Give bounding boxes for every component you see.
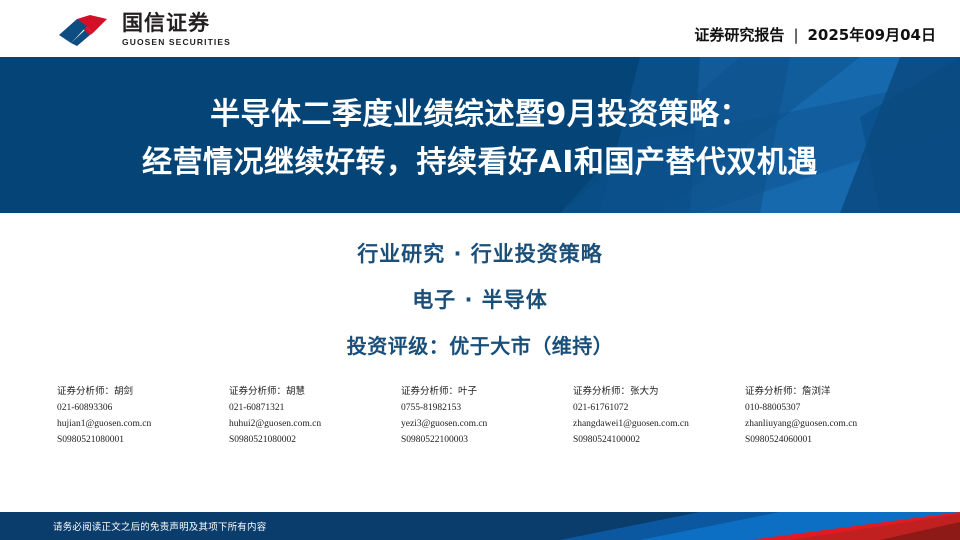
analyst-name: 证券分析师：张大为 — [573, 383, 745, 397]
report-type-and-date: 证券研究报告 | 2025年09月04日 — [694, 24, 936, 45]
report-title-line-2: 经营情况继续好转，持续看好AI和国产替代双机遇 — [142, 137, 818, 181]
analyst-list: 证券分析师：胡剑 021-60893306 hujian1@guosen.com… — [57, 383, 917, 445]
report-title-line-1: 半导体二季度业绩综述暨9月投资策略： — [210, 89, 750, 133]
analyst-name: 证券分析师：詹浏洋 — [745, 383, 917, 397]
analyst-email[interactable]: zhangdawei1@guosen.com.cn — [573, 419, 745, 429]
logo-english-name: GUOSEN SECURITIES — [122, 38, 231, 47]
analyst-license: S0980521080002 — [229, 435, 401, 445]
analyst-card: 证券分析师：詹浏洋 010-88005307 zhanliuyang@guose… — [745, 383, 917, 445]
report-type-label: 证券研究报告 — [694, 24, 784, 45]
analyst-email[interactable]: huhui2@guosen.com.cn — [229, 419, 401, 429]
logo-chinese-name: 国信证券 — [122, 13, 231, 34]
sector-line: 电子 · 半导体 — [412, 284, 548, 314]
analyst-email[interactable]: yezi3@guosen.com.cn — [401, 419, 573, 429]
analyst-name: 证券分析师：胡剑 — [57, 383, 229, 397]
analyst-license: S0980521080001 — [57, 435, 229, 445]
analyst-name: 证券分析师：叶子 — [401, 383, 573, 397]
analyst-card: 证券分析师：胡剑 021-60893306 hujian1@guosen.com… — [57, 383, 229, 445]
page-footer: 请务必阅读正文之后的免责声明及其项下所有内容 — [0, 512, 960, 540]
report-date: 2025年09月04日 — [808, 24, 937, 45]
industry-research-line: 行业研究 · 行业投资策略 — [357, 238, 603, 268]
report-meta-block: 行业研究 · 行业投资策略 电子 · 半导体 投资评级：优于大市（维持） — [0, 238, 960, 359]
analyst-email[interactable]: hujian1@guosen.com.cn — [57, 419, 229, 429]
analyst-card: 证券分析师：叶子 0755-81982153 yezi3@guosen.com.… — [401, 383, 573, 445]
guosen-logo-mark-icon — [57, 13, 113, 47]
analyst-phone: 021-60893306 — [57, 403, 229, 413]
page-header: 国信证券 GUOSEN SECURITIES 证券研究报告 | 2025年09月… — [0, 0, 960, 57]
analyst-license: S0980522100003 — [401, 435, 573, 445]
banner-title-group: 半导体二季度业绩综述暨9月投资策略： 经营情况继续好转，持续看好AI和国产替代双… — [0, 57, 960, 213]
analyst-card: 证券分析师：胡慧 021-60871321 huhui2@guosen.com.… — [229, 383, 401, 445]
analyst-phone: 021-61761072 — [573, 403, 745, 413]
logo-text: 国信证券 GUOSEN SECURITIES — [122, 13, 231, 47]
analyst-phone: 021-60871321 — [229, 403, 401, 413]
analyst-email[interactable]: zhanliuyang@guosen.com.cn — [745, 419, 917, 429]
company-logo: 国信证券 GUOSEN SECURITIES — [57, 13, 231, 47]
analyst-phone: 010-88005307 — [745, 403, 917, 413]
footer-disclaimer: 请务必阅读正文之后的免责声明及其项下所有内容 — [53, 519, 266, 533]
title-banner: 半导体二季度业绩综述暨9月投资策略： 经营情况继续好转，持续看好AI和国产替代双… — [0, 57, 960, 213]
investment-rating-line: 投资评级：优于大市（维持） — [347, 330, 614, 359]
analyst-phone: 0755-81982153 — [401, 403, 573, 413]
analyst-card: 证券分析师：张大为 021-61761072 zhangdawei1@guose… — [573, 383, 745, 445]
analyst-license: S0980524060001 — [745, 435, 917, 445]
analyst-license: S0980524100002 — [573, 435, 745, 445]
analyst-name: 证券分析师：胡慧 — [229, 383, 401, 397]
header-separator: | — [793, 26, 798, 44]
report-cover-page: 国信证券 GUOSEN SECURITIES 证券研究报告 | 2025年09月… — [0, 0, 960, 540]
